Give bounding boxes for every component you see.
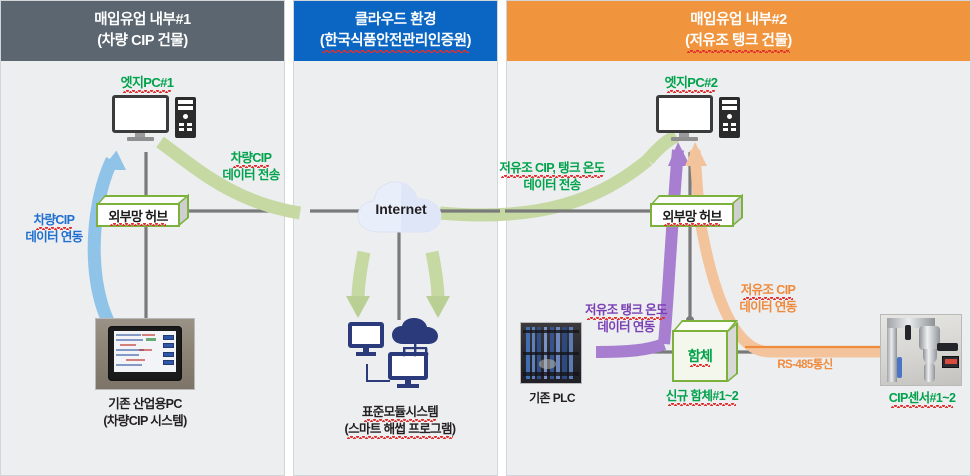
monitor-base <box>671 137 698 141</box>
box-side-face <box>728 322 738 382</box>
panel-1-title-line2: (차량 CIP 건물) <box>97 31 188 52</box>
monitor-icon <box>656 95 713 133</box>
external-hub-1-label: 외부망 허브 <box>108 206 167 225</box>
edge-pc-1-device <box>112 95 200 141</box>
flow-label-vehicle-cip-link: 차량CIP 데이터 연동 <box>6 212 102 246</box>
panel-2-title-line2: (한국식품안전관리인증원) <box>320 31 471 52</box>
monitor-icon <box>112 95 169 133</box>
edge-pc-2-device <box>656 95 744 141</box>
panel-1-title-line1: 매입유업 내부#1 <box>94 10 191 31</box>
cip-sensor-photo <box>880 314 962 386</box>
box-front-face: 함체 <box>672 330 728 382</box>
monitor-base <box>127 137 154 141</box>
diagram-canvas: 매입유업 내부#1 (차량 CIP 건물) 클라우드 환경 (한국식품안전관리인… <box>0 0 971 476</box>
panel-1-header: 매입유업 내부#1 (차량 CIP 건물) <box>1 1 284 61</box>
enclosure-label: 함체 <box>688 346 713 366</box>
pc-tower-icon <box>719 97 740 138</box>
industrial-pc-photo <box>95 318 195 390</box>
edge-pc-1-label: 엣지PC#1 <box>102 74 192 92</box>
rs485-label: RS-485통신 <box>760 358 850 374</box>
panel-3-header: 매입유업 내부#2 (저유조 탱크 건물) <box>507 1 970 61</box>
plc-caption: 기존 PLC <box>512 390 592 406</box>
monitor-icon-left <box>348 322 384 348</box>
flow-label-tank-cip-link: 저유조 CIP 데이터 연동 <box>708 282 828 316</box>
hub-front-face: 외부망 허브 <box>96 203 180 227</box>
new-enclosure-box: 함체 <box>672 320 736 384</box>
internet-cloud-label: Internet <box>355 200 447 219</box>
panel-2-title-line1: 클라우드 환경 <box>355 10 436 31</box>
standard-module-icon-group <box>348 320 453 390</box>
hub-front-face: 외부망 허브 <box>650 203 734 227</box>
flow-label-vehicle-cip-transmit: 차량CIP 데이터 전송 <box>196 150 306 184</box>
panel-2-header: 클라우드 환경 (한국식품안전관리인증원) <box>294 1 497 61</box>
cloud-server-icon <box>390 318 440 358</box>
standard-module-caption: 표준모듈시스템 (스마트 해썹 프로그램) <box>310 404 490 438</box>
cip-sensor-caption: CIP센서#1~2 <box>862 390 971 407</box>
external-hub-2-label: 외부망 허브 <box>662 206 721 225</box>
panel-3-title-line1: 매입유업 내부#2 <box>690 10 787 31</box>
flow-label-tank-cip-transmit: 저유조 CIP, 탱크 온도 데이터 전송 <box>472 160 632 194</box>
panel-3-title-line2: (저유조 탱크 건물) <box>685 31 792 52</box>
edge-pc-2-label: 엣지PC#2 <box>646 74 736 92</box>
industrial-pc-caption: 기존 산업용PC (차량CIP 시스템) <box>70 396 220 430</box>
plc-cabinet-photo <box>520 322 582 384</box>
pc-tower-icon <box>175 97 196 138</box>
new-enclosure-caption: 신규 함체#1~2 <box>640 388 764 405</box>
